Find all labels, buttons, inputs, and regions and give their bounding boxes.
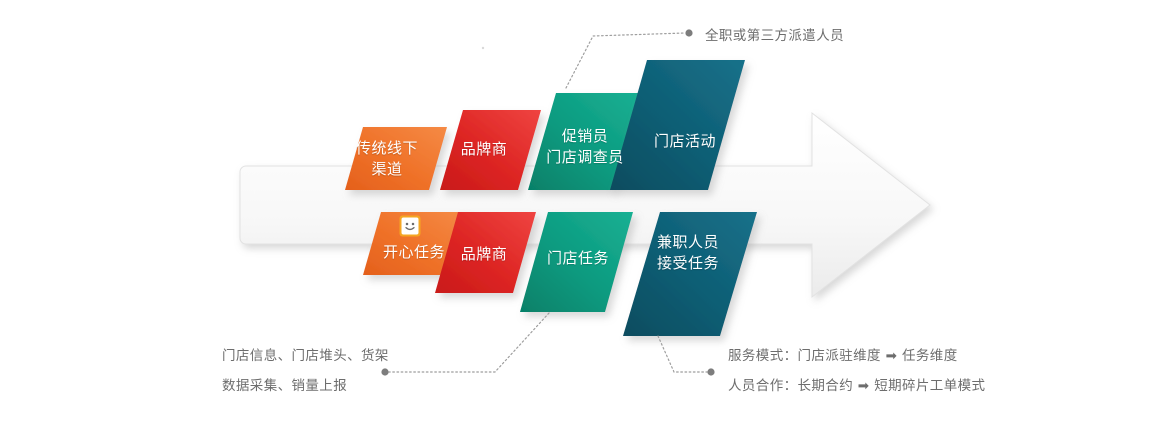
artifact-speck [482,47,484,49]
connector-dot-bottom-right [707,368,714,375]
annotation-line: 门店信息、门店堆头、货架 [222,341,389,371]
annotation-line: 服务模式：门店派驻维度 ➡ 任务维度 [728,341,985,371]
annotation-staffing: 全职或第三方派遣人员 [705,23,844,49]
diagram-canvas: 传统线下 渠道 品牌商 促销员 门店调查员 门店活动 开心任务 品牌商 门店任务… [0,0,1150,430]
bottom-row-steps [363,212,757,336]
annotation-data-collection: 门店信息、门店堆头、货架 数据采集、销量上报 [222,341,389,401]
annotation-line: 全职或第三方派遣人员 [705,23,844,49]
annotation-line: 人员合作：长期合约 ➡ 短期碎片工单模式 [728,371,985,401]
connector-bottom-left [388,313,549,372]
connector-bottom-right [658,336,707,372]
annotation-service-model: 服务模式：门店派驻维度 ➡ 任务维度 人员合作：长期合约 ➡ 短期碎片工单模式 [728,341,985,401]
annotation-line: 数据采集、销量上报 [222,371,389,401]
top-row-steps [345,60,745,190]
connector-dot-top-right [685,29,692,36]
smiley-icon [399,215,421,237]
